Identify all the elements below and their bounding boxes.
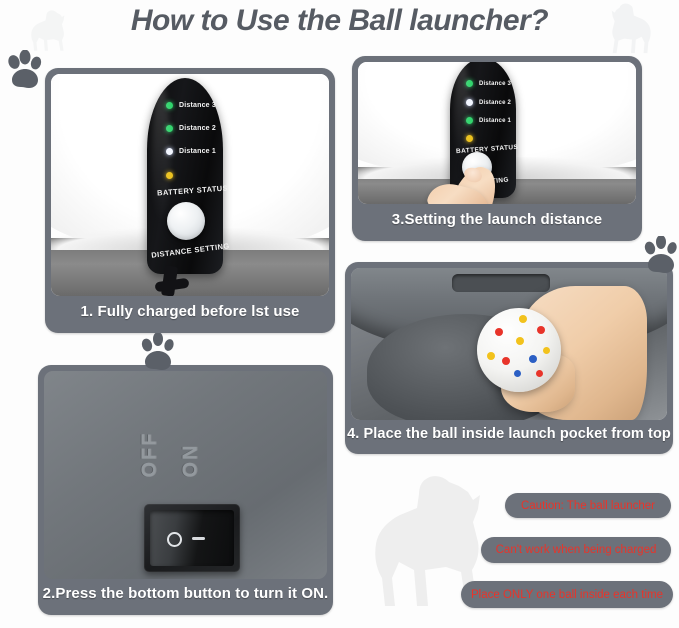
led-distance-1-label: Distance 1	[179, 148, 216, 155]
led-distance-1-icon	[466, 117, 473, 124]
paw-print-icon	[139, 333, 177, 373]
switch-on-label: ON	[180, 444, 203, 478]
led-distance-2-label: Distance 2	[479, 100, 511, 106]
ball-dot	[516, 337, 524, 345]
step-2-caption: 2.Press the bottom button to turn it ON.	[38, 573, 333, 615]
step-panel-1: Distance 3 Distance 2 Distance 1 BATTERY…	[45, 68, 335, 333]
led-distance-3-icon	[166, 102, 173, 109]
led-row-distance-2: Distance 2	[466, 99, 511, 106]
caution-pill-2: Can't work when being charged	[481, 537, 671, 563]
step-4-photo	[351, 268, 667, 420]
paw-print-icon	[643, 236, 679, 276]
led-row-battery	[166, 172, 173, 179]
ball-dot	[495, 328, 503, 336]
step-panel-2: OFF ON 2.Press the bottom button to turn…	[38, 365, 333, 615]
page-title: How to Use the Ball launcher?	[0, 4, 679, 38]
step-3-photo: Distance 3 Distance 2 Distance 1 BATTERY…	[358, 62, 636, 204]
led-distance-3-label: Distance 3	[479, 81, 511, 87]
led-distance-2-icon	[166, 125, 173, 132]
switch-off-label: OFF	[139, 432, 162, 478]
step-panel-3: Distance 3 Distance 2 Distance 1 BATTERY…	[352, 56, 642, 241]
step-3-caption: 3.Setting the launch distance	[352, 198, 642, 241]
control-pod: Distance 3 Distance 2 Distance 1 BATTERY…	[147, 78, 223, 274]
led-battery-icon	[166, 172, 173, 179]
ball-dot	[514, 370, 521, 377]
led-distance-3-label: Distance 3	[179, 102, 216, 109]
caution-pill-3: Place ONLY one ball inside each time	[461, 581, 673, 608]
ball-dot	[529, 355, 537, 363]
step-1-caption: 1. Fully charged before lst use	[45, 290, 335, 333]
led-row-distance-3: Distance 3	[466, 80, 511, 87]
distance-setting-knob[interactable]	[167, 202, 205, 240]
led-distance-1-label: Distance 1	[479, 118, 511, 124]
header: How to Use the Ball launcher?	[0, 0, 679, 56]
paw-print-icon	[6, 50, 44, 92]
ball-dot	[537, 326, 545, 334]
power-rocker-switch[interactable]	[144, 504, 240, 572]
led-row-battery	[466, 135, 473, 142]
battery-status-label: BATTERY STATUS	[456, 144, 519, 155]
led-distance-3-icon	[466, 80, 473, 87]
ball-dot	[543, 347, 550, 354]
distance-setting-label: DISTANCE SETTING	[151, 241, 230, 260]
infographic-root: How to Use the Ball launcher? Distance 3…	[0, 0, 679, 628]
led-row-distance-1: Distance 1	[166, 148, 216, 155]
power-off-symbol-icon	[167, 532, 182, 547]
led-row-distance-2: Distance 2	[166, 125, 216, 132]
battery-status-label: BATTERY STATUS	[157, 184, 228, 198]
ball-dot	[502, 357, 510, 365]
step-2-photo: OFF ON	[44, 371, 327, 579]
rocker-face[interactable]	[150, 510, 234, 566]
caution-pill-1: Caution: The ball launcher	[505, 493, 671, 518]
led-row-distance-3: Distance 3	[166, 102, 216, 109]
power-on-symbol-icon	[192, 537, 205, 540]
led-distance-2-icon	[466, 99, 473, 106]
led-distance-2-label: Distance 2	[179, 125, 216, 132]
led-row-distance-1: Distance 1	[466, 117, 511, 124]
dog-sitting-silhouette-icon	[600, 2, 662, 56]
ball-dot	[536, 370, 543, 377]
ball-dot	[519, 315, 527, 323]
led-distance-1-icon	[166, 148, 173, 155]
step-panel-4: 4. Place the ball inside launch pocket f…	[345, 262, 673, 454]
led-battery-icon	[466, 135, 473, 142]
pocket-slot	[452, 274, 550, 292]
step-1-photo: Distance 3 Distance 2 Distance 1 BATTERY…	[51, 74, 329, 296]
ball-dot	[487, 352, 495, 360]
step-4-caption: 4. Place the ball inside launch pocket f…	[345, 414, 673, 454]
launcher-ball	[477, 308, 561, 392]
